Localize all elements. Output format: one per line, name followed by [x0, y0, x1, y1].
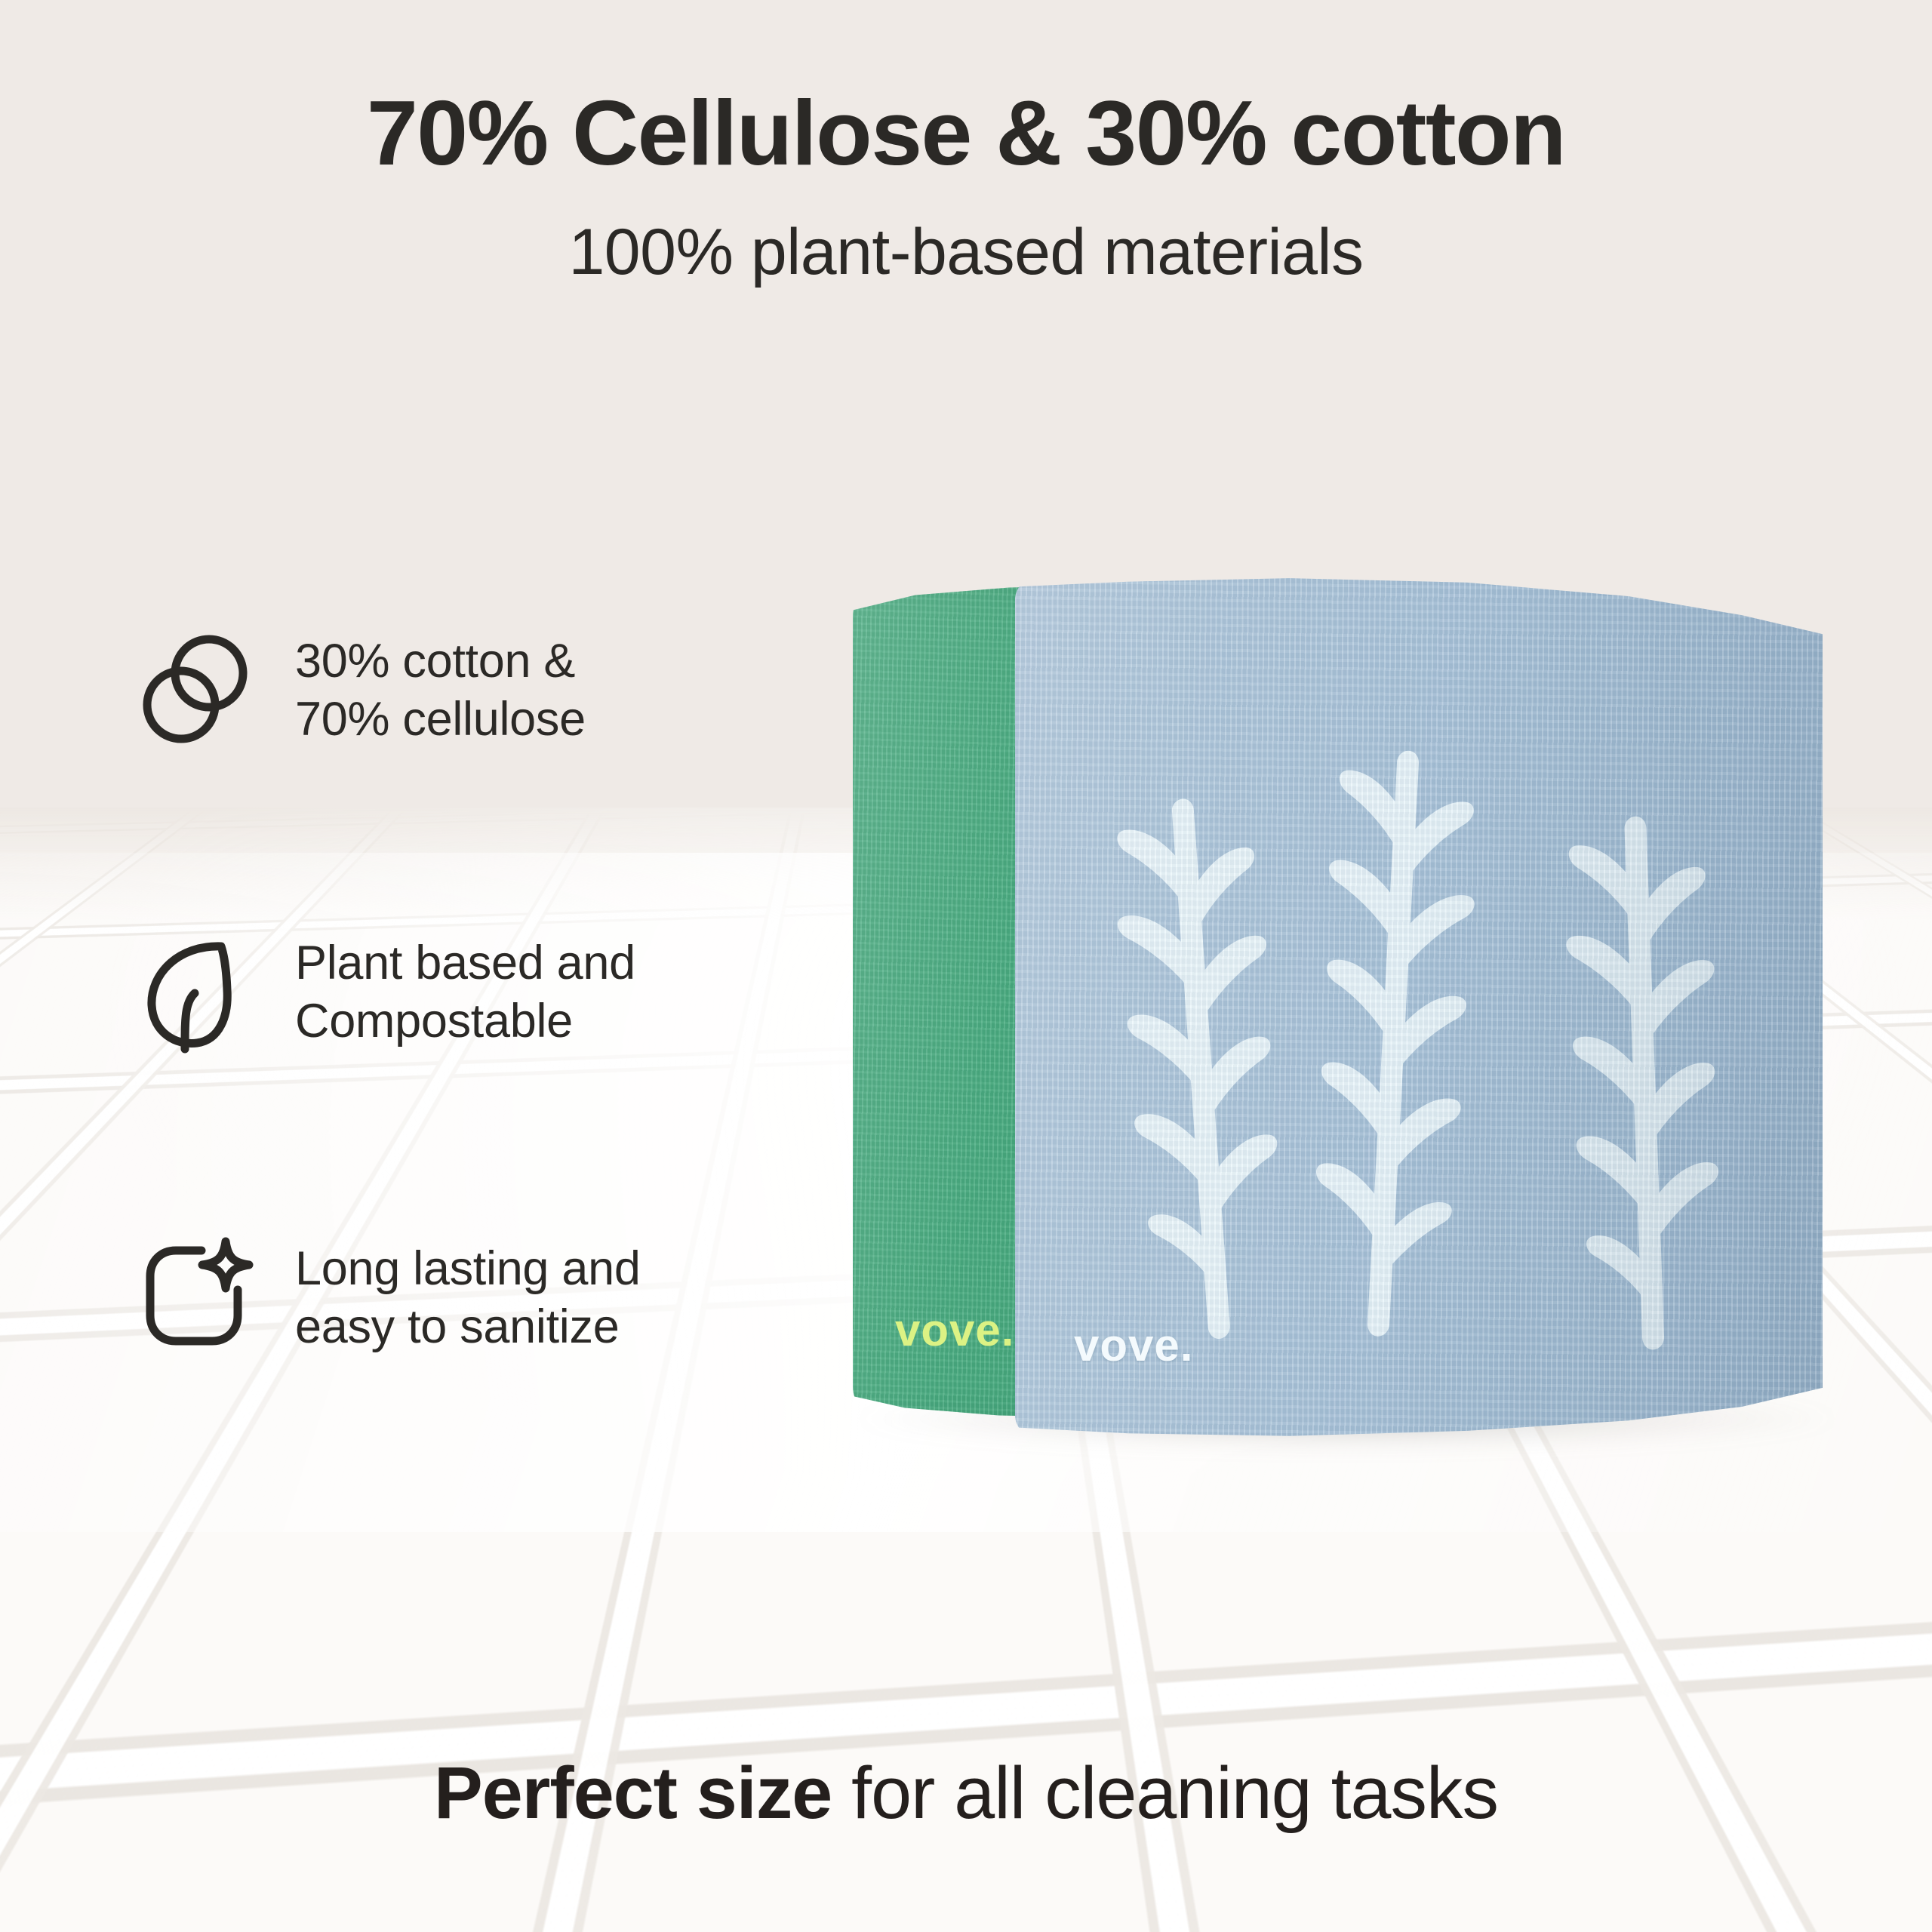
- feature-label: Long lasting and easy to sanitize: [295, 1240, 641, 1356]
- footer-tagline-bold: Perfect size: [434, 1752, 832, 1834]
- sparkle-shine-icon: [132, 1234, 260, 1362]
- feature-item-long-lasting: Long lasting and easy to sanitize: [132, 1234, 641, 1362]
- feature-label: 30% cotton & 70% cellulose: [295, 632, 586, 749]
- feature-item-plant-based: Plant based and Compostable: [132, 928, 635, 1057]
- feature-label: Plant based and Compostable: [295, 934, 635, 1051]
- product-feature-graphic: 70% Cellulose & 30% cotton 100% plant-ba…: [0, 0, 1932, 1932]
- overlapping-circles-icon: [132, 626, 260, 755]
- footer-tagline: Perfect size for all cleaning tasks: [0, 1751, 1932, 1835]
- blue-cloth-texture: [1015, 577, 1823, 1438]
- footer-tagline-rest: for all cleaning tasks: [832, 1752, 1498, 1834]
- feature-item-composition: 30% cotton & 70% cellulose: [132, 626, 586, 755]
- leaf-icon: [132, 928, 260, 1057]
- brand-logo-green: vove.: [895, 1304, 1014, 1356]
- blue-sponge-cloth: vove.: [1015, 577, 1823, 1438]
- brand-logo-blue: vove.: [1074, 1319, 1193, 1371]
